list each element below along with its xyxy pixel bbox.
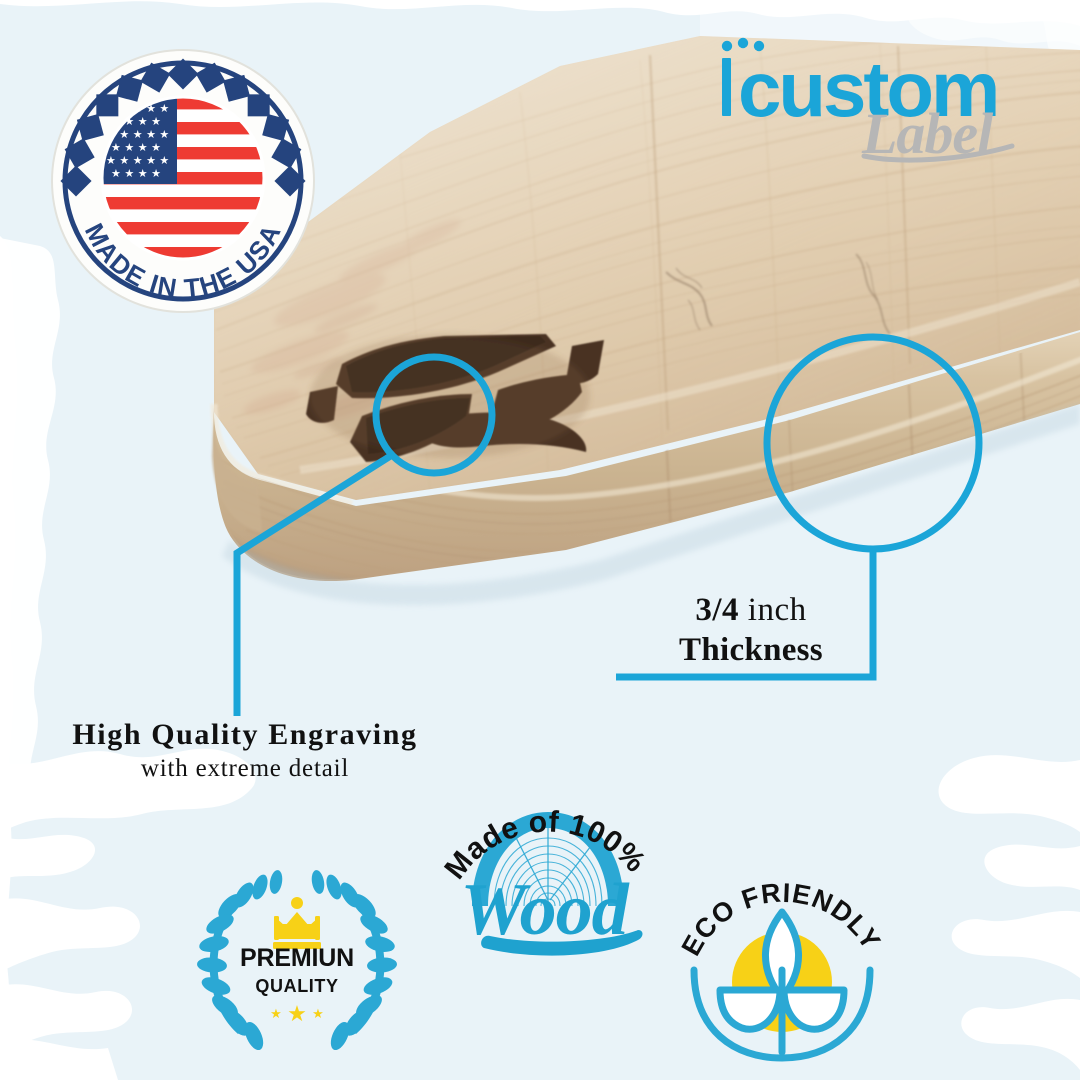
product-marketing-image: 3/4 inch Thickness High Quality Engravin… xyxy=(0,0,1080,1080)
engraving-subtitle: with extreme detail xyxy=(20,755,470,783)
eco-friendly-badge[interactable]: ECO FRIENDLY xyxy=(676,862,888,1062)
engraving-title: High Quality Engraving xyxy=(20,718,470,751)
svg-text:★: ★ xyxy=(287,1002,307,1027)
svg-text:★: ★ xyxy=(312,1007,324,1022)
engraving-callout-marker[interactable] xyxy=(237,357,492,716)
wood-script-text: Wood xyxy=(460,869,642,956)
logo-secondary-text: Label xyxy=(861,101,1012,166)
premium-line1: PREMIUN xyxy=(240,944,354,972)
premium-line2: QUALITY xyxy=(255,976,338,996)
thickness-label: Thickness xyxy=(636,632,866,670)
svg-text:★ ★ ★ ★ ★: ★ ★ ★ ★ ★ xyxy=(106,154,169,167)
made-of-100-percent-wood-badge[interactable]: Made of 100% Wood xyxy=(432,782,662,962)
svg-text:★ ★ ★ ★: ★ ★ ★ ★ xyxy=(111,141,161,154)
made-in-the-usa-badge[interactable]: ★ ★ ★ ★ ★ ★ ★ ★ ★ ★ ★ ★ ★ ★ ★ ★ ★ ★ ★ ★ … xyxy=(44,42,322,320)
thickness-unit: inch xyxy=(748,592,807,628)
thickness-callout-text: 3/4 inch Thickness xyxy=(636,592,866,669)
engraving-callout-text: High Quality Engraving with extreme deta… xyxy=(20,718,470,783)
brand-logo[interactable]: custom Label xyxy=(712,34,1052,160)
rating-stars-icon: ★ ★ ★ ★ xyxy=(270,1002,324,1027)
crown-icon xyxy=(273,897,321,949)
thickness-value: 3/4 xyxy=(695,592,739,628)
premium-quality-badge[interactable]: PREMIUN QUALITY ★ ★ ★ ★ xyxy=(204,862,390,1052)
svg-text:★: ★ xyxy=(270,1007,282,1022)
svg-text:★ ★ ★ ★: ★ ★ ★ ★ xyxy=(111,167,161,180)
